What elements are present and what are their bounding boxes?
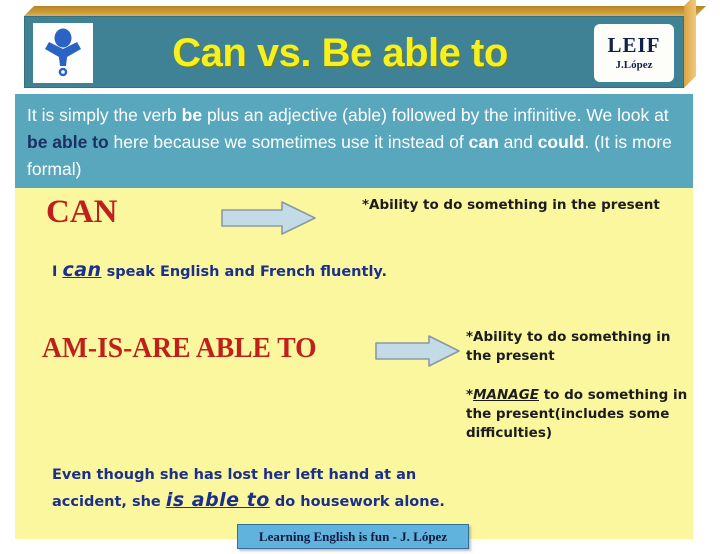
example-can-highlight: can <box>62 259 101 281</box>
example-able-highlight: is able to <box>166 489 270 511</box>
right-arrow-icon <box>220 200 318 241</box>
keyword-can: CAN <box>46 194 118 231</box>
person-exclamation-icon <box>40 28 86 78</box>
example-sentence-can: I can speak English and French fluently. <box>52 258 612 285</box>
header-bevel-top <box>24 6 706 16</box>
keyword-am-is-are-able-to: AM-IS-ARE ABLE TO <box>42 332 317 365</box>
intro-bold-be: be <box>182 105 202 125</box>
note-can-ability: *Ability to do something in the present <box>362 196 662 215</box>
intro-part-3: here because we sometimes use it instead… <box>109 132 469 152</box>
slide-header: Can vs. Be able to LEIF J.López <box>24 6 696 88</box>
slide-canvas: Can vs. Be able to LEIF J.López It is si… <box>0 0 720 554</box>
leif-badge-name: LEIF <box>607 35 660 56</box>
example-can-post: speak English and French fluently. <box>102 264 387 280</box>
logo-box <box>33 23 93 83</box>
leif-badge-author: J.López <box>616 60 653 71</box>
right-arrow-icon <box>374 334 462 373</box>
example-able-post: do housework alone. <box>270 494 445 510</box>
intro-paragraph: It is simply the verb be plus an adjecti… <box>27 102 679 183</box>
note-able-ability: *Ability to do something in the present <box>466 328 698 366</box>
note-able-manage-prefix: * <box>466 387 473 403</box>
intro-bold-be-able-to: be able to <box>27 132 109 152</box>
header-bevel-right <box>684 0 696 88</box>
intro-part-2: plus an adjective (able) followed by the… <box>202 105 669 125</box>
page-title: Can vs. Be able to <box>105 17 575 89</box>
header-bar: Can vs. Be able to LEIF J.López <box>24 16 684 88</box>
footer-text: Learning English is fun - J. López <box>259 529 447 545</box>
leif-badge: LEIF J.López <box>594 24 674 82</box>
intro-band: It is simply the verb be plus an adjecti… <box>15 94 693 188</box>
intro-part-1: It is simply the verb <box>27 105 182 125</box>
note-able-manage-highlight: MANAGE <box>473 387 539 403</box>
intro-bold-could: could <box>538 132 585 152</box>
intro-part-4: and <box>499 132 538 152</box>
example-can-pre: I <box>52 264 62 280</box>
note-able-manage: *MANAGE to do something in the present(i… <box>466 386 704 443</box>
intro-bold-can: can <box>469 132 499 152</box>
example-sentence-able-to: Even though she has lost her left hand a… <box>52 463 482 515</box>
footer-banner: Learning English is fun - J. López <box>237 524 469 549</box>
